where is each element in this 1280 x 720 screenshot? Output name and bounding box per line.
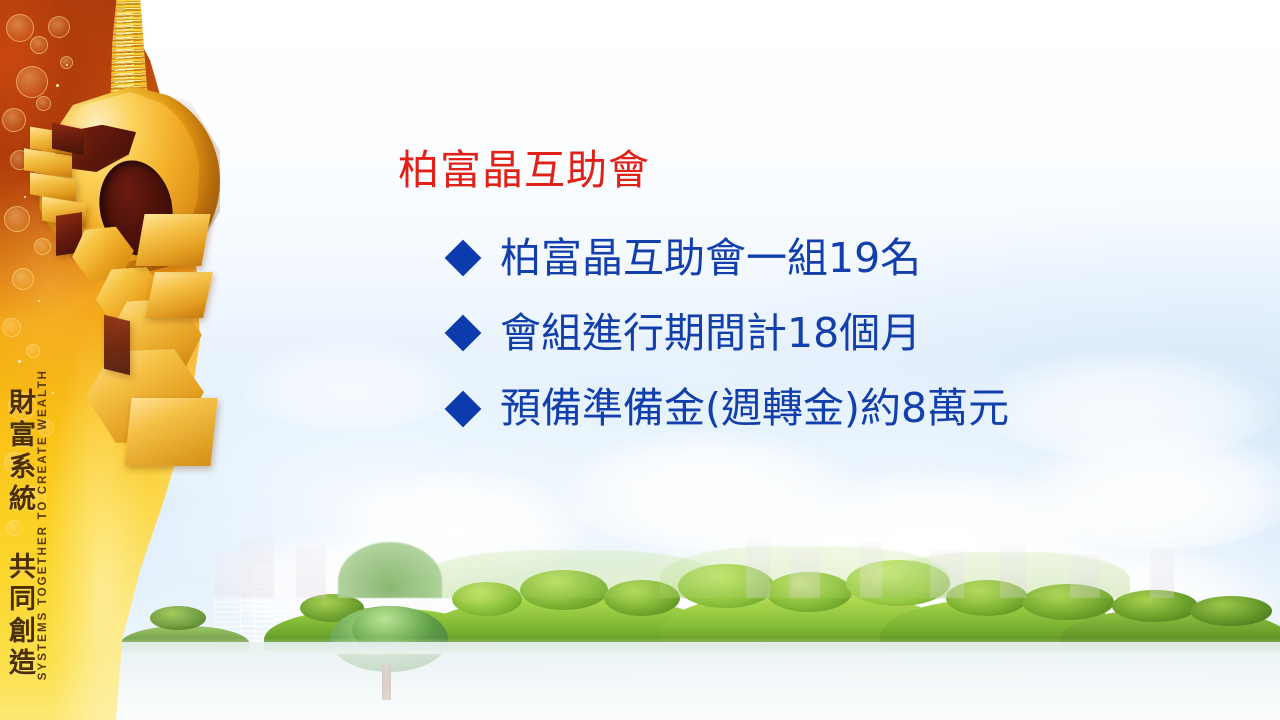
brand-tagline: 財富系統 共同創造 SYSTEMS TOGETHER TO CREATE WEA… — [6, 360, 50, 680]
slide-title: 柏富晶互助會 — [398, 148, 1218, 194]
diamond-bullet-icon — [445, 240, 482, 277]
gold-brand-panel: 財富系統 共同創造 SYSTEMS TOGETHER TO CREATE WEA… — [0, 0, 230, 720]
bullet-text: 預備準備金(週轉金)約8萬元 — [500, 386, 1009, 430]
bullet-text: 會組進行期間計18個月 — [500, 311, 921, 355]
bullet-list: 柏富晶互助會一組19名 會組進行期間計18個月 預備準備金(週轉金)約8萬元 — [398, 236, 1218, 431]
presentation-slide: 財富系統 共同創造 SYSTEMS TOGETHER TO CREATE WEA… — [0, 0, 1280, 720]
diamond-bullet-icon — [445, 315, 482, 352]
slide-content: 柏富晶互助會 柏富晶互助會一組19名 會組進行期間計18個月 預備準備金(週轉金… — [398, 148, 1218, 462]
bullet-text: 柏富晶互助會一組19名 — [500, 236, 921, 280]
tagline-chinese: 財富系統 共同創造 — [6, 388, 33, 680]
diamond-bullet-icon — [445, 390, 482, 427]
list-item: 會組進行期間計18個月 — [398, 311, 1218, 355]
list-item: 預備準備金(週轉金)約8萬元 — [398, 386, 1218, 430]
tagline-english: SYSTEMS TOGETHER TO CREATE WEALTH — [38, 369, 50, 680]
list-item: 柏富晶互助會一組19名 — [398, 236, 1218, 280]
